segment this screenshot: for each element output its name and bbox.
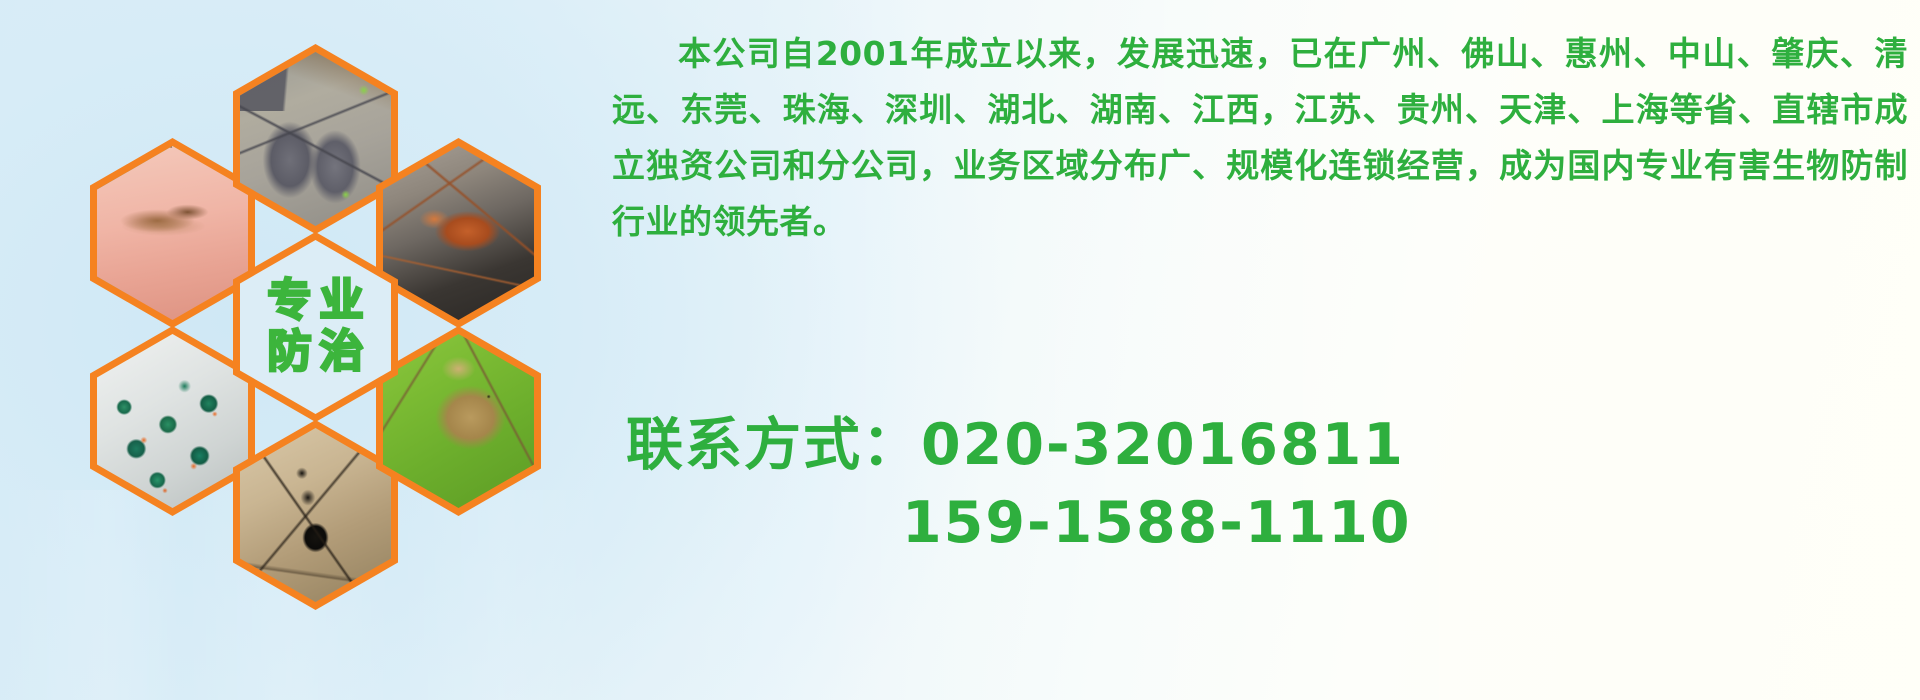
hex-tile-stinkbug [376, 326, 541, 516]
hex-inner [383, 146, 534, 320]
contact-block: 联系方式：020-32016811 159-1588-1110 [612, 406, 1908, 562]
flies-photo [97, 334, 248, 508]
ant-photo [240, 428, 391, 602]
hex-tile-center-badge: 专业 防治 [233, 232, 398, 422]
mosquito-photo [97, 146, 248, 320]
hex-inner: 专业 防治 [240, 240, 391, 414]
hex-inner [383, 334, 534, 508]
center-badge-label: 专业 防治 [240, 240, 391, 414]
hex-inner [97, 334, 248, 508]
hex-tile-flies [90, 326, 255, 516]
hex-collage: 专业 防治 [90, 8, 590, 553]
cockroach-photo [383, 146, 534, 320]
hex-tile-rats [233, 44, 398, 234]
contact-mobile-line[interactable]: 159-1588-1110 [612, 484, 1908, 562]
company-intro-paragraph: 本公司自2001年成立以来，发展迅速，已在广州、佛山、惠州、中山、肇庆、清远、东… [612, 26, 1908, 250]
hex-inner [97, 146, 248, 320]
center-badge-line-1: 专业 [260, 279, 372, 324]
hex-tile-mosquito [90, 138, 255, 328]
hex-inner [240, 428, 391, 602]
hex-tile-cockroach [376, 138, 541, 328]
hex-tile-ant [233, 420, 398, 610]
center-badge-line-2: 防治 [260, 330, 372, 375]
content-column: 本公司自2001年成立以来，发展迅速，已在广州、佛山、惠州、中山、肇庆、清远、东… [612, 26, 1908, 666]
contact-landline-line[interactable]: 联系方式：020-32016811 [612, 406, 1908, 484]
promo-banner: 专业 防治 本公司自2001年成立以来，发展迅速，已在广州、佛山、惠州、中山、肇… [0, 0, 1920, 700]
stink-bug-photo [383, 334, 534, 508]
hex-inner [240, 52, 391, 226]
rats-photo [240, 52, 391, 226]
